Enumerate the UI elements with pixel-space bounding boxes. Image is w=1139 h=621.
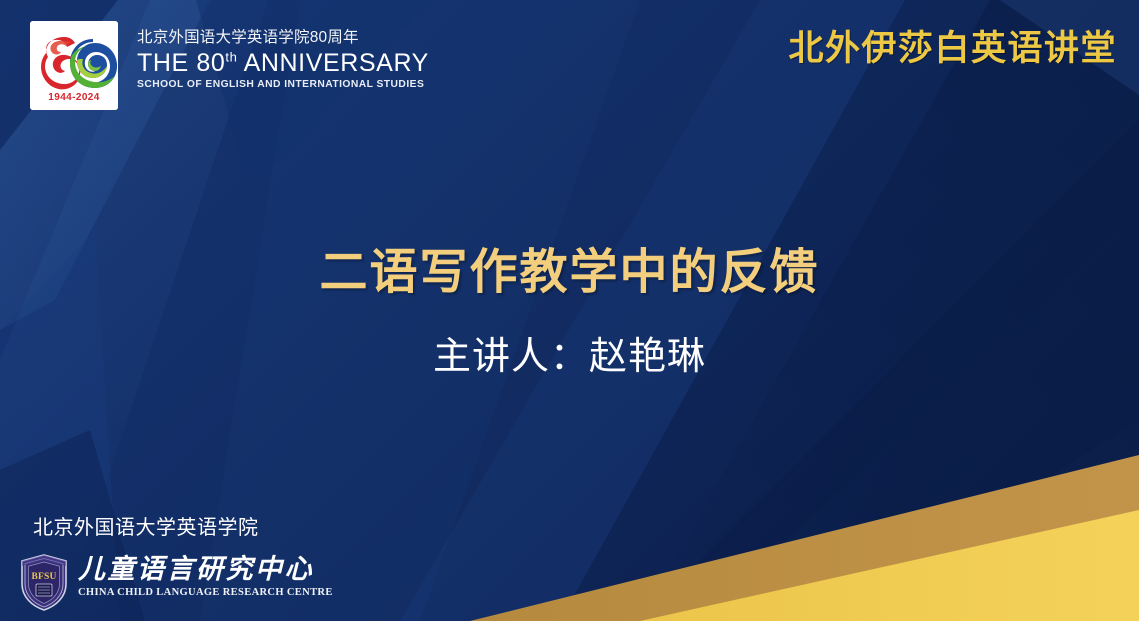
school-name-en: SCHOOL OF ENGLISH AND INTERNATIONAL STUD… — [137, 80, 429, 90]
anniversary-text-block: 北京外国语大学英语学院80周年 THE 80th ANNIVERSARY SCH… — [137, 30, 429, 90]
bfsu-80-emblem-icon: 1944-2024 — [30, 21, 118, 110]
lecture-series-title: 北外伊莎白英语讲堂 — [788, 20, 1117, 71]
research-centre-logo: BFSU 儿童语言研究中心 CHINA CHILD LANGUAGE RESEA… — [20, 553, 310, 615]
svg-text:1944-2024: 1944-2024 — [48, 92, 99, 103]
svg-text:BFSU: BFSU — [31, 572, 56, 582]
anniversary-logo: 1944-2024 — [30, 21, 118, 110]
anniversary-title-cn: 北京外国语大学英语学院80周年 — [137, 30, 429, 46]
presentation-slide: 1944-2024 北京外国语大学英语学院80周年 THE 80th ANNIV… — [0, 0, 1139, 621]
research-centre-name-cn: 儿童语言研究中心 — [78, 555, 333, 585]
speaker-line: 主讲人：赵艳琳 — [0, 325, 1139, 380]
anniversary-title-en-pre: THE 80 — [137, 49, 225, 77]
organization-name: 北京外国语大学英语学院 — [33, 511, 259, 540]
anniversary-title-en: THE 80th ANNIVERSARY — [137, 51, 429, 76]
page-title: 二语写作教学中的反馈 — [0, 232, 1139, 302]
research-centre-crest-icon: BFSU — [20, 554, 68, 611]
anniversary-title-en-post: ANNIVERSARY — [237, 49, 429, 77]
slide-header: 1944-2024 北京外国语大学英语学院80周年 THE 80th ANNIV… — [0, 0, 1139, 112]
research-centre-name-en: CHINA CHILD LANGUAGE RESEARCH CENTRE — [78, 587, 333, 598]
research-centre-names: 儿童语言研究中心 CHINA CHILD LANGUAGE RESEARCH C… — [78, 555, 333, 598]
anniversary-ordinal-suffix: th — [225, 49, 237, 64]
